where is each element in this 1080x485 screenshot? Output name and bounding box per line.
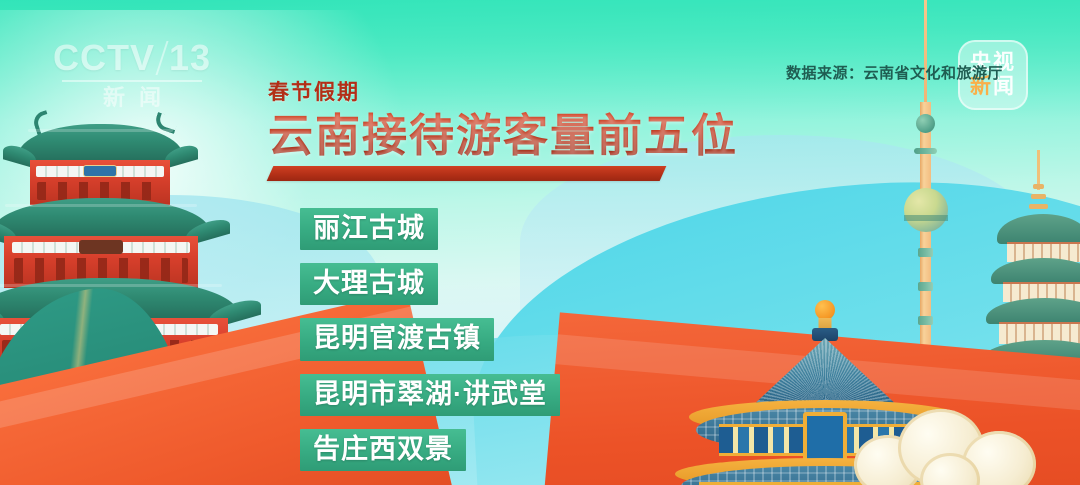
- ranking-item-3: 昆明官渡古镇: [300, 318, 494, 360]
- news-graphic-frame: CCTV 13 新闻 央视 新闻 数据来源：云南省文化和旅游厅 春节假期 云南接…: [0, 0, 1080, 485]
- pagoda-spire-knob-3: [1029, 204, 1048, 209]
- cctv-logo-number: 13: [169, 40, 211, 76]
- cctv-logo-text: CCTV: [53, 40, 155, 76]
- tower-ring-upper: [914, 148, 937, 154]
- pagoda-roof-tier1: [18, 124, 183, 162]
- pagoda-signboard-tier2: [79, 240, 123, 254]
- pagoda-spire-knob-2: [1031, 194, 1046, 199]
- tower-segment-1: [918, 248, 933, 257]
- ranking-item-5: 告庄西双景: [300, 429, 466, 471]
- pagoda-roof-tier2: [0, 198, 210, 238]
- title-underline-bar: [267, 166, 667, 181]
- cctv13-channel-logo: CCTV 13 新闻: [52, 40, 212, 126]
- ranking-row: 丽江古城: [300, 208, 560, 263]
- tower-segment-2: [918, 282, 933, 291]
- logo-underbar: [62, 80, 202, 82]
- subtitle-text: 春节假期: [268, 82, 738, 103]
- ranking-item-1: 丽江古城: [300, 208, 438, 250]
- logo-slash-divider: [155, 41, 168, 75]
- cloud-swirl-ornament: [854, 401, 1044, 485]
- tower-small-sphere: [916, 114, 935, 133]
- title-block: 春节假期 云南接待游客量前五位: [268, 82, 738, 181]
- ranking-row: 昆明市翠湖·讲武堂: [300, 374, 560, 429]
- temple-center-plaque: [803, 412, 847, 464]
- temple-roof-cone: [750, 338, 900, 408]
- ranking-row: 告庄西双景: [300, 429, 560, 484]
- temple-finial-ball: [815, 300, 835, 320]
- page-title: 云南接待游客量前五位: [268, 112, 738, 159]
- data-source-label: 数据来源：云南省文化和旅游厅: [786, 62, 1003, 83]
- cctv-logo-cn-label: 新闻: [52, 87, 212, 109]
- tower-large-sphere: [904, 188, 948, 232]
- right-pagoda-roof-1: [997, 214, 1080, 244]
- right-pagoda-roof-2: [991, 258, 1080, 284]
- right-pagoda-roof-3: [986, 298, 1080, 324]
- ranking-list: 丽江古城大理古城昆明官渡古镇昆明市翠湖·讲武堂告庄西双景: [300, 208, 560, 484]
- ranking-row: 大理古城: [300, 263, 560, 318]
- pagoda-spire-knob-1: [1033, 184, 1044, 189]
- pagoda-plaque: [83, 165, 117, 177]
- ranking-item-2: 大理古城: [300, 263, 438, 305]
- ranking-item-4: 昆明市翠湖·讲武堂: [300, 374, 560, 416]
- tower-needle: [924, 0, 927, 112]
- ranking-row: 昆明官渡古镇: [300, 318, 560, 373]
